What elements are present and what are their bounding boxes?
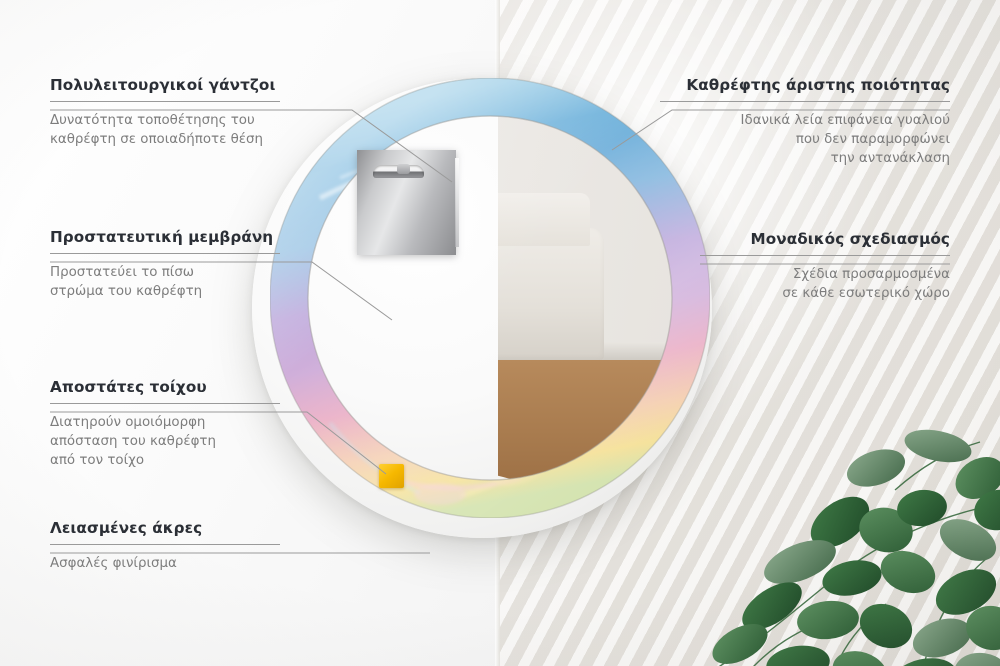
callout-description: Δυνατότητα τοποθέτησης του καθρέφτη σε ο… bbox=[50, 111, 280, 149]
callout-multifunctional-hooks: Πολυλειτουργικοί γάντζοι Δυνατότητα τοπο… bbox=[50, 76, 280, 149]
callout-title: Μοναδικός σχεδιασμός bbox=[700, 230, 950, 248]
callout-title: Λειασμένες άκρες bbox=[50, 519, 280, 537]
callout-rule bbox=[50, 403, 280, 404]
callout-description: Ασφαλές φινίρισμα bbox=[50, 554, 280, 573]
callout-description: Διατηρούν ομοιόμορφη απόσταση του καθρέφ… bbox=[50, 413, 280, 470]
callout-rule bbox=[660, 101, 950, 102]
callout-rule bbox=[50, 253, 280, 254]
callout-rule bbox=[700, 255, 950, 256]
callout-top-quality-mirror: Καθρέφτης άριστης ποιότητας Ιδανικά λεία… bbox=[660, 76, 950, 168]
callout-wall-spacers: Αποστάτες τοίχου Διατηρούν ομοιόμορφη απ… bbox=[50, 378, 280, 470]
callout-title: Αποστάτες τοίχου bbox=[50, 378, 280, 396]
callout-smoothed-edges: Λειασμένες άκρες Ασφαλές φινίρισμα bbox=[50, 519, 280, 573]
callout-protective-membrane: Προστατευτική μεμβράνη Προστατεύει το πί… bbox=[50, 228, 280, 301]
callout-text-layer: Πολυλειτουργικοί γάντζοι Δυνατότητα τοπο… bbox=[0, 0, 1000, 666]
callout-description: Προστατεύει το πίσω στρώμα του καθρέφτη bbox=[50, 263, 280, 301]
callout-title: Καθρέφτης άριστης ποιότητας bbox=[660, 76, 950, 94]
infographic-canvas: Πολυλειτουργικοί γάντζοι Δυνατότητα τοπο… bbox=[0, 0, 1000, 666]
callout-rule bbox=[50, 544, 280, 545]
callout-title: Πολυλειτουργικοί γάντζοι bbox=[50, 76, 280, 94]
callout-description: Σχέδια προσαρμοσμένα σε κάθε εσωτερικό χ… bbox=[700, 265, 950, 303]
callout-rule bbox=[50, 101, 280, 102]
callout-unique-design: Μοναδικός σχεδιασμός Σχέδια προσαρμοσμέν… bbox=[700, 230, 950, 303]
callout-description: Ιδανικά λεία επιφάνεια γυαλιού που δεν π… bbox=[660, 111, 950, 168]
callout-title: Προστατευτική μεμβράνη bbox=[50, 228, 280, 246]
